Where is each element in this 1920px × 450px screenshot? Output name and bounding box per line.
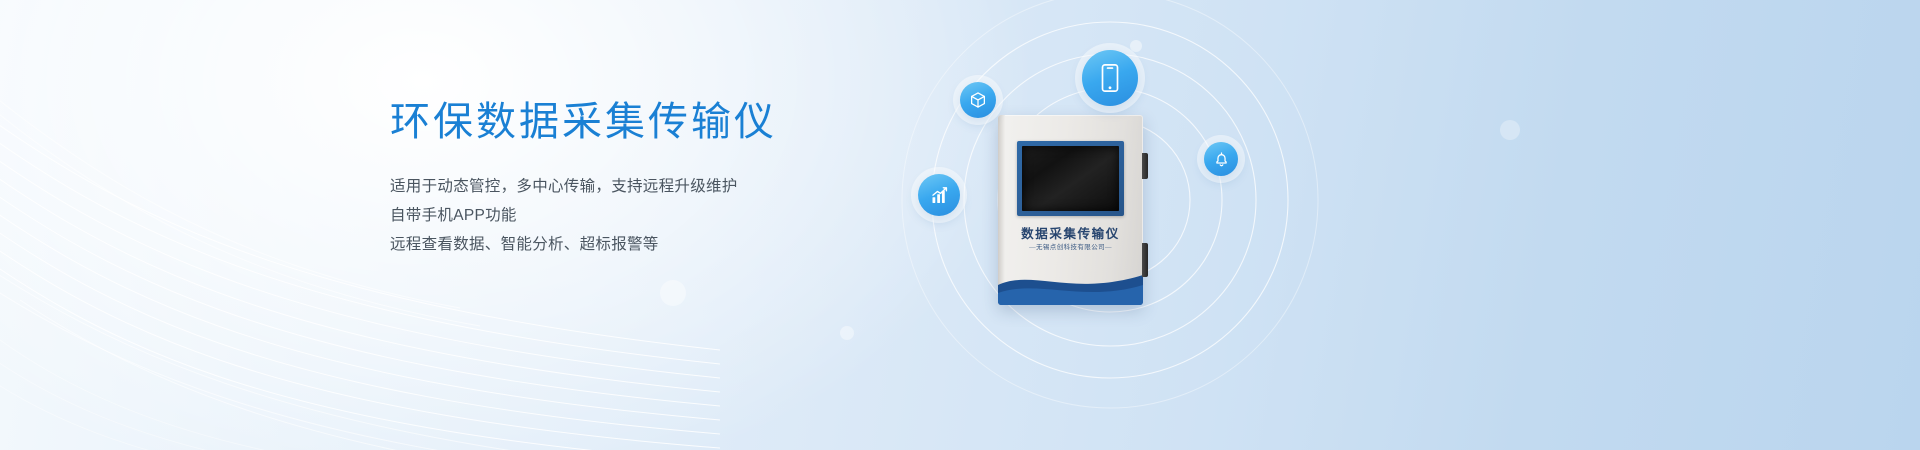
bokeh-circle-4 xyxy=(1500,120,1520,140)
product-visual: 数据采集传输仪 —无锡点创科技有限公司— xyxy=(860,0,1400,450)
banner-subtitle-line-1: 适用于动态管控，多中心传输，支持远程升级维护 xyxy=(390,172,910,201)
banner-subtitle-list: 适用于动态管控，多中心传输，支持远程升级维护 自带手机APP功能 远程查看数据、… xyxy=(390,172,910,259)
product-banner: 环保数据采集传输仪 适用于动态管控，多中心传输，支持远程升级维护 自带手机APP… xyxy=(0,0,1920,450)
alarm-bell-icon[interactable] xyxy=(1204,142,1238,176)
device-side-port-top xyxy=(1142,153,1148,179)
banner-subtitle-line-2: 自带手机APP功能 xyxy=(390,201,910,230)
device-lcd-screen xyxy=(1022,146,1119,211)
mobile-phone-icon[interactable] xyxy=(1082,50,1138,106)
banner-title: 环保数据采集传输仪 xyxy=(390,96,910,148)
banner-copy: 环保数据采集传输仪 适用于动态管控，多中心传输，支持远程升级维护 自带手机APP… xyxy=(390,96,910,259)
data-collector-device: 数据采集传输仪 —无锡点创科技有限公司— xyxy=(998,115,1143,305)
device-side-port-bottom xyxy=(1142,243,1148,277)
device-screen-bezel xyxy=(1017,141,1124,216)
device-body: 数据采集传输仪 —无锡点创科技有限公司— xyxy=(998,115,1143,305)
bar-chart-icon[interactable] xyxy=(918,174,960,216)
device-brand-label: 数据采集传输仪 xyxy=(998,223,1143,242)
cube-icon[interactable] xyxy=(960,82,996,118)
bokeh-circle-1 xyxy=(660,280,686,306)
device-wave-graphic xyxy=(998,263,1143,305)
device-company-label: —无锡点创科技有限公司— xyxy=(998,241,1143,251)
bokeh-circle-3 xyxy=(840,326,854,340)
banner-subtitle-line-3: 远程查看数据、智能分析、超标报警等 xyxy=(390,230,910,259)
